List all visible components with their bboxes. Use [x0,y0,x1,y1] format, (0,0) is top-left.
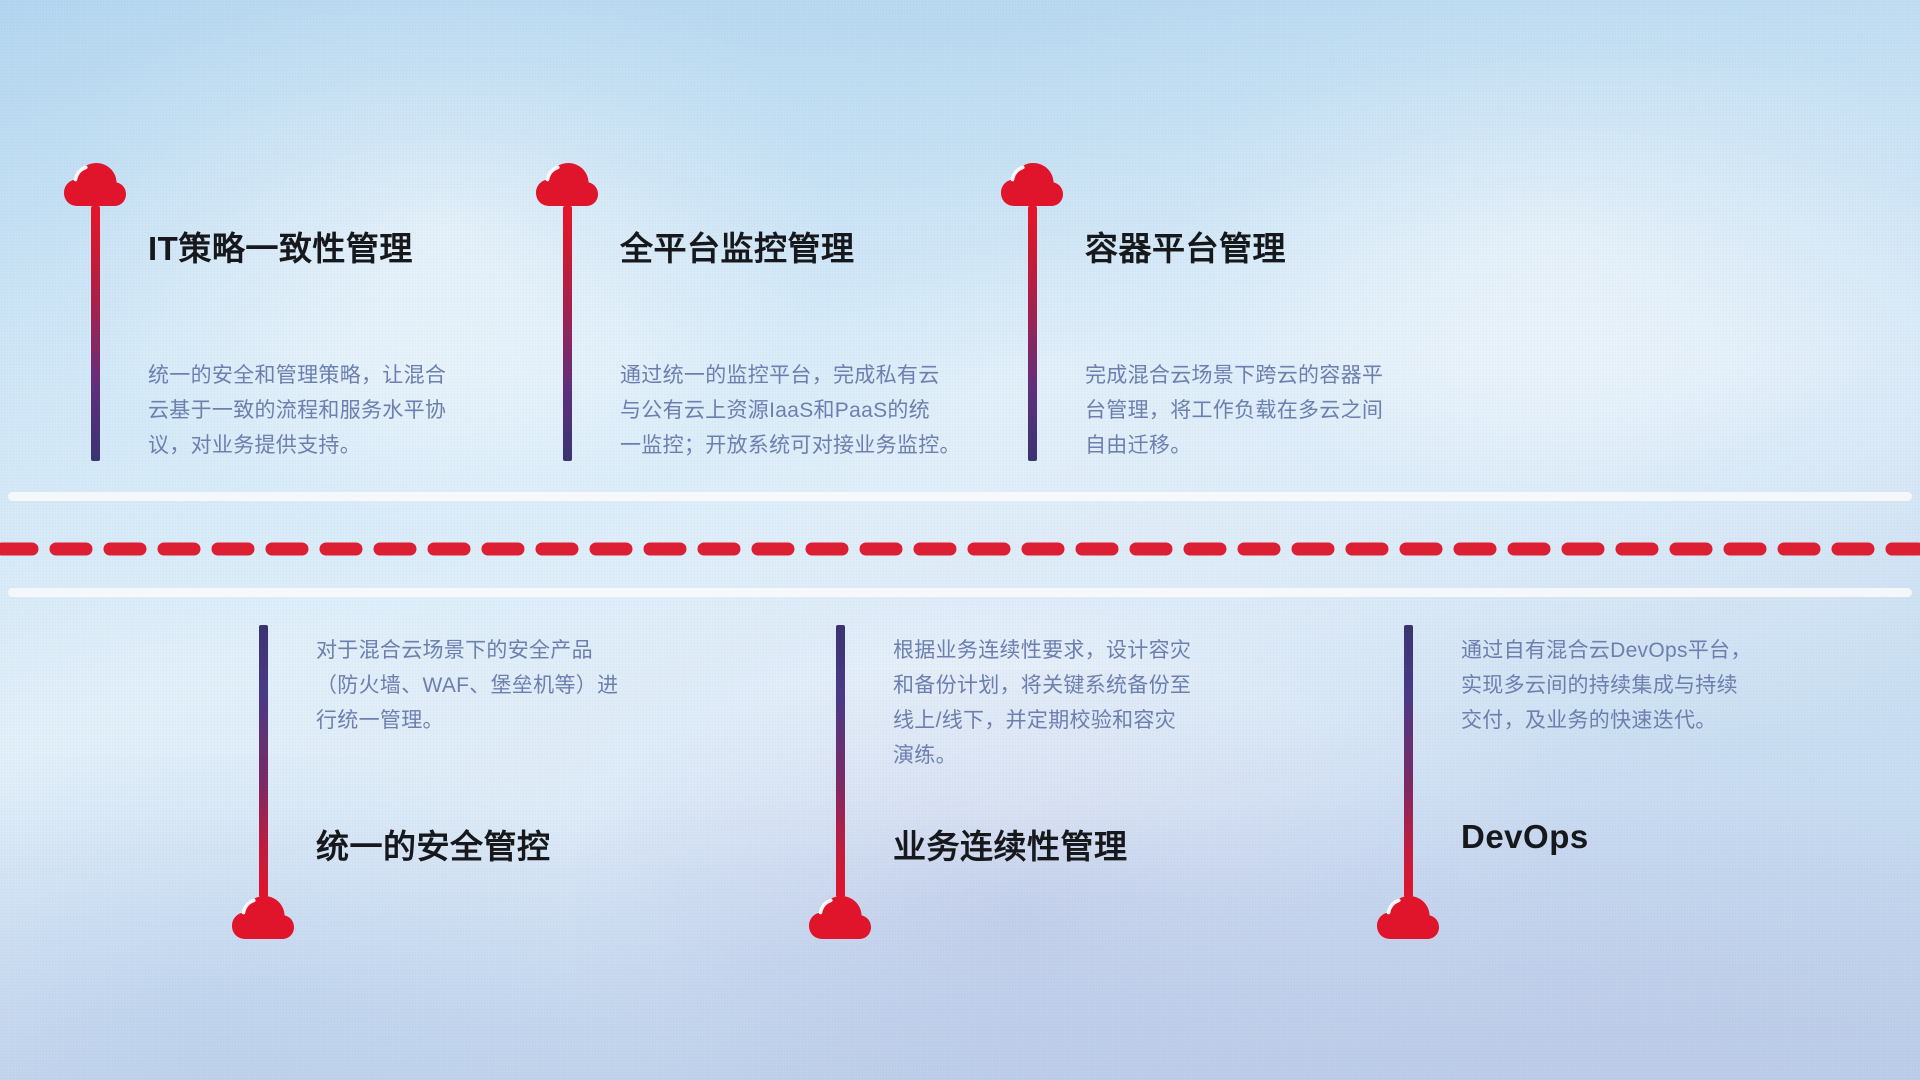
cloud-icon [808,893,872,941]
item-title: 统一的安全管控 [316,820,551,868]
connector-line [1404,625,1413,897]
item-description: 通过自有混合云DevOps平台， 实现多云间的持续集成与持续 交付，及业务的快速… [1461,633,1871,738]
item-title: 容器平台管理 [1085,222,1286,270]
divider-line-top [8,492,1912,501]
cloud-icon [1000,160,1064,208]
connector-line [563,206,572,461]
item-description: 统一的安全和管理策略，让混合 云基于一致的流程和服务水平协 议，对业务提供支持。 [148,358,548,463]
item-description: 通过统一的监控平台，完成私有云 与公有云上资源IaaS和PaaS的统 一监控；开… [620,358,1020,463]
divider-line-bottom [8,588,1912,597]
cloud-icon [535,160,599,208]
cloud-icon [1376,893,1440,941]
item-title: IT策略一致性管理 [148,222,413,270]
item-description: 根据业务连续性要求，设计容灾 和备份计划，将关键系统备份至 线上/线下，并定期校… [893,633,1303,773]
item-description: 对于混合云场景下的安全产品 （防火墙、WAF、堡垒机等）进 行统一管理。 [316,633,726,738]
connector-line [1028,206,1037,461]
item-title: DevOps [1461,818,1589,856]
connector-line [836,625,845,897]
infographic-canvas: IT策略一致性管理 统一的安全和管理策略，让混合 云基于一致的流程和服务水平协 … [0,0,1920,1080]
cloud-icon [63,160,127,208]
item-title: 全平台监控管理 [620,222,855,270]
dashed-road-divider [0,542,1920,556]
connector-line [259,625,268,897]
item-description: 完成混合云场景下跨云的容器平 台管理，将工作负载在多云之间 自由迁移。 [1085,358,1485,463]
connector-line [91,206,100,461]
cloud-icon [231,893,295,941]
item-title: 业务连续性管理 [893,820,1128,868]
